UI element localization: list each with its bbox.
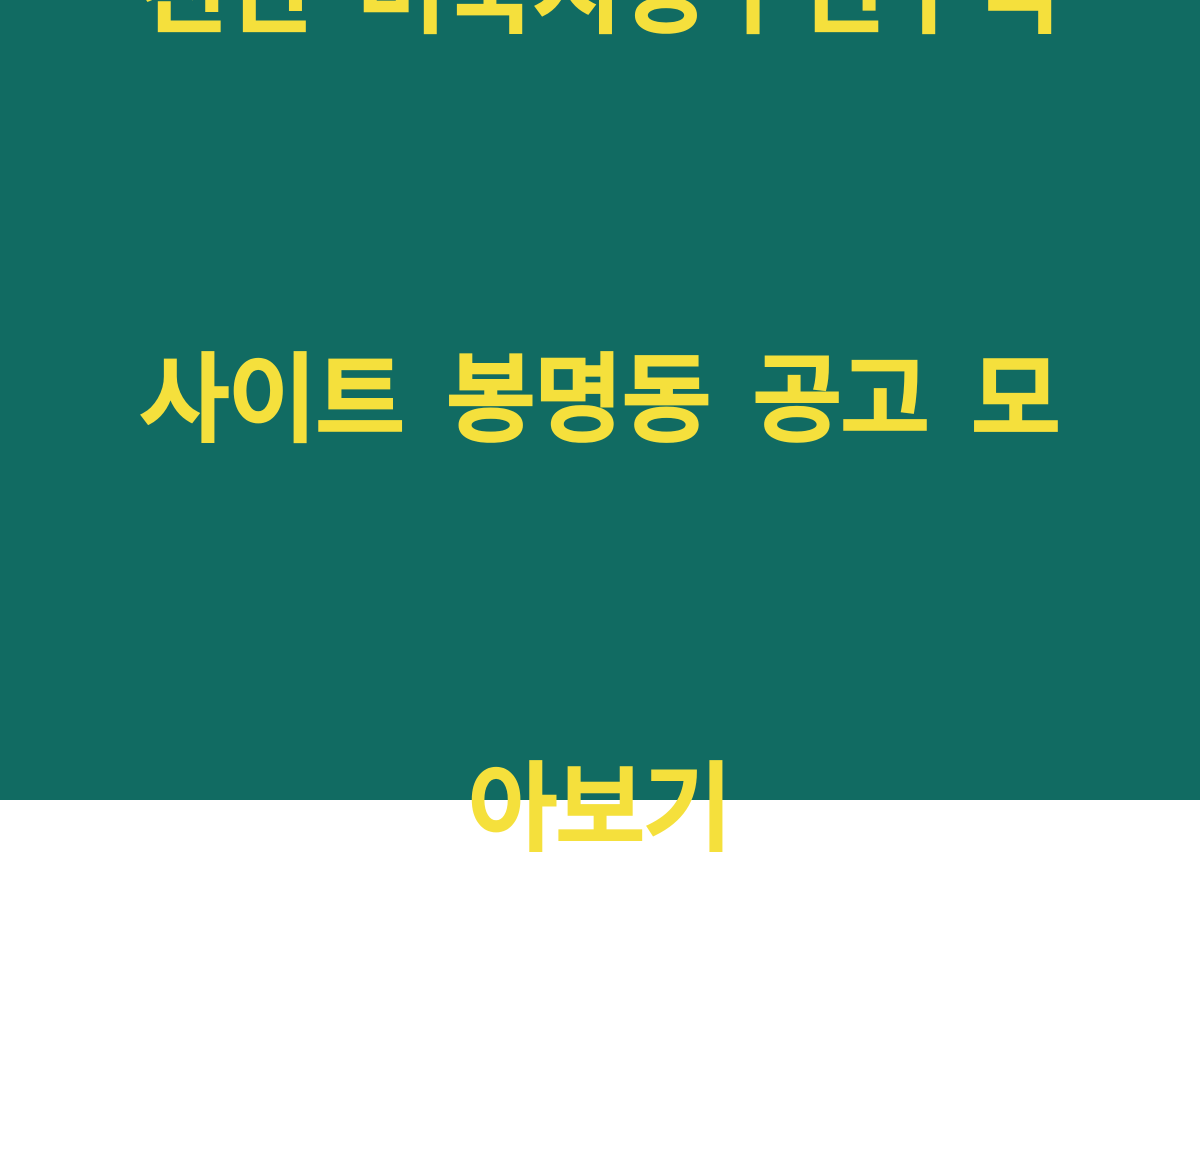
title-banner: 천안 벼룩시장구인구직 사이트 봉명동 공고 모 아보기 bbox=[0, 0, 1200, 800]
headline-line-3: 아보기 bbox=[100, 741, 1100, 877]
banner-headline: 천안 벼룩시장구인구직 사이트 봉명동 공고 모 아보기 bbox=[100, 0, 1100, 1150]
headline-line-1: 천안 벼룩시장구인구직 bbox=[100, 0, 1100, 59]
headline-line-2: 사이트 봉명동 공고 모 bbox=[100, 332, 1100, 468]
